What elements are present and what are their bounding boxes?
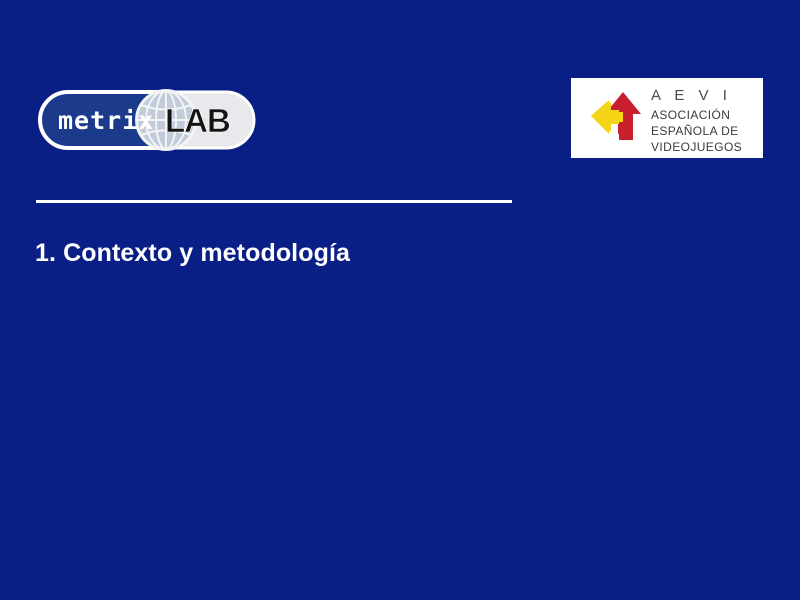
aevi-acronym: A E V I [651, 87, 732, 104]
logo-word-lab: LAB [165, 102, 230, 139]
aevi-line-1: ASOCIACIÓN [651, 107, 730, 122]
logo-word-metrix: metrix [58, 106, 154, 135]
aevi-logo: A E V I ASOCIACIÓN ESPAÑOLA DE VIDEOJUEG… [571, 78, 763, 158]
metrixlab-logo: metrix LAB [36, 88, 258, 152]
slide-canvas: metrix LAB A E V I ASOCIACIÓN ESPAÑOLA D… [0, 0, 800, 600]
aevi-line-2: ESPAÑOLA DE [651, 124, 739, 138]
header-divider [36, 200, 512, 203]
page-title: 1. Contexto y metodología [35, 237, 350, 269]
aevi-line-3: VIDEOJUEGOS [651, 140, 742, 154]
slide-body [36, 290, 764, 570]
